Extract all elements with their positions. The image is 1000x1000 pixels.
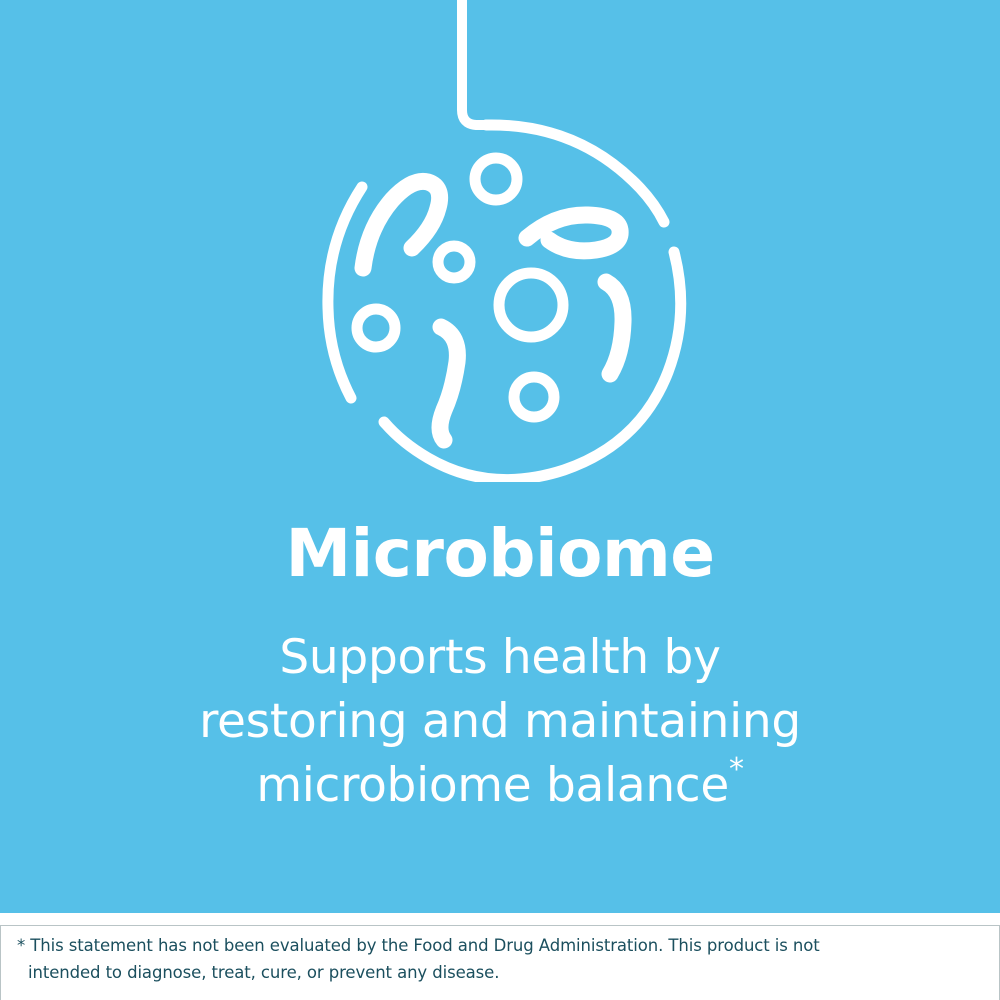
bacterium-lower-center xyxy=(440,327,457,440)
page-title: Microbiome xyxy=(0,516,1000,592)
rim-arc-left xyxy=(328,187,362,398)
benefit-description: Supports health by restoring and maintai… xyxy=(60,626,940,818)
cell-small-center xyxy=(438,246,470,278)
bacterium-right xyxy=(606,282,623,374)
fda-disclaimer-box: * This statement has not been evaluated … xyxy=(0,925,1000,1000)
benefit-line-1: Supports health by xyxy=(60,626,940,690)
benefit-line-2: restoring and maintaining xyxy=(60,690,940,754)
hero-panel: Microbiome Supports health by restoring … xyxy=(0,0,1000,913)
benefit-line-3: microbiome balance* xyxy=(60,754,940,818)
product-benefit-card: Microbiome Supports health by restoring … xyxy=(0,0,1000,1000)
cell-top-center xyxy=(475,158,517,200)
rim-arc-right-bottom xyxy=(384,252,681,480)
bacterium-upper-right xyxy=(527,215,620,251)
cell-center-large xyxy=(499,273,563,337)
footnote-marker: * xyxy=(729,752,744,787)
bacterium-upper-left xyxy=(363,181,440,268)
fda-disclaimer-line-2: intended to diagnose, treat, cure, or pr… xyxy=(17,959,977,986)
fda-disclaimer-line-1: * This statement has not been evaluated … xyxy=(17,932,977,959)
stem-line xyxy=(462,0,490,125)
cell-left xyxy=(357,309,395,347)
benefit-line-3-text: microbiome balance xyxy=(256,758,729,813)
cell-bottom xyxy=(514,377,554,417)
fda-disclaimer-text: * This statement has not been evaluated … xyxy=(17,932,977,986)
microbiome-petri-dish-icon xyxy=(310,0,690,482)
